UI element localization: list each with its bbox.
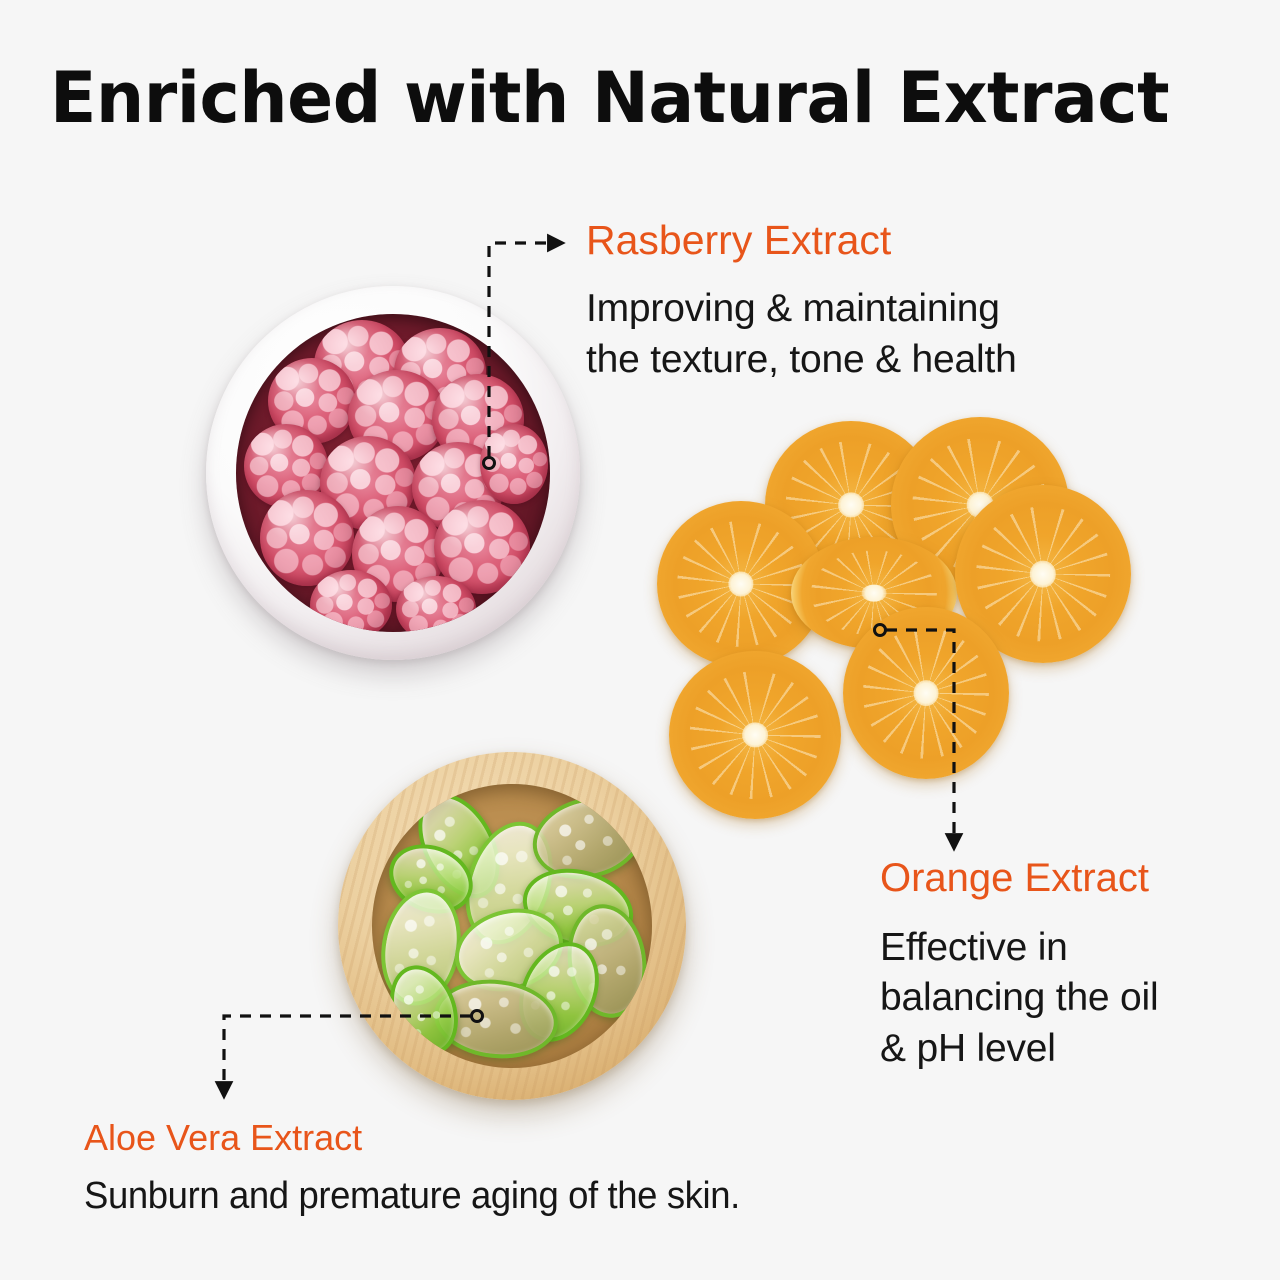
callout-orange: Orange Extract Effective in balancing th… [880,856,1158,1075]
callout-body-rasberry: Improving & maintaining the texture, ton… [586,284,1017,385]
infographic-canvas: Enriched with Natural Extract [0,0,1280,1280]
callout-body-line: Improving & maintaining [586,284,1017,335]
raspberry-bowl-photo [198,280,588,672]
callout-body-line: balancing the oil [880,973,1158,1024]
callout-rasberry: Rasberry Extract Improving & maintaining… [586,218,1017,385]
callout-body-line: Effective in [880,923,1158,974]
orange-slices-photo [655,415,1135,825]
raspberry-bowl-shape [206,286,580,660]
wooden-bowl-shape [338,752,686,1100]
callout-heading-rasberry: Rasberry Extract [586,218,1017,264]
callout-aloe: Aloe Vera Extract Sunburn and premature … [84,1118,767,1222]
aloe-vera-bowl-photo [338,752,690,1104]
wooden-bowl-interior [372,784,652,1068]
callout-heading-aloe: Aloe Vera Extract [84,1118,767,1158]
raspberry-bowl-interior [236,314,550,632]
callout-body-orange: Effective in balancing the oil & pH leve… [880,923,1158,1075]
callout-body-aloe: Sunburn and premature aging of the skin. [84,1172,740,1221]
callout-heading-orange: Orange Extract [880,856,1158,901]
callout-body-line: the texture, tone & health [586,335,1017,386]
callout-body-line: Sunburn and premature aging of the skin. [84,1172,740,1221]
page-title: Enriched with Natural Extract [50,62,1156,136]
callout-body-line: & pH level [880,1024,1158,1075]
